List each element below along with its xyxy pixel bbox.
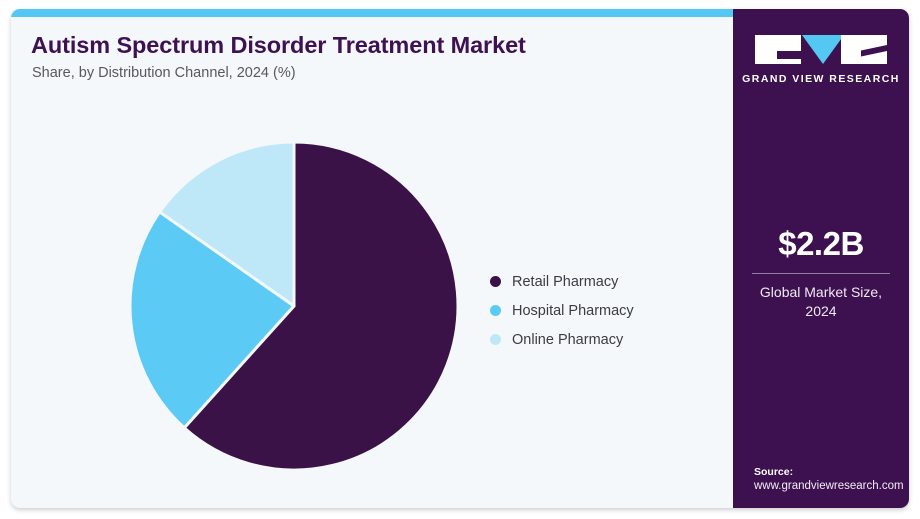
infographic-card: Autism Spectrum Disorder Treatment Marke…: [11, 9, 909, 508]
page-subtitle: Share, by Distribution Channel, 2024 (%): [32, 65, 296, 81]
legend-swatch-online-pharmacy: [490, 334, 501, 345]
market-size-caption-line1: Global Market Size,: [760, 284, 882, 300]
legend-swatch-hospital-pharmacy: [490, 305, 501, 316]
logo-letter-v-triangle-icon: [802, 35, 844, 64]
legend-swatch-retail-pharmacy: [490, 276, 501, 287]
logo-letter-r-icon: [841, 35, 887, 64]
market-size-value: $2.2B: [733, 227, 909, 260]
logo-marks: [746, 35, 896, 65]
source-url[interactable]: www.grandviewresearch.com: [754, 480, 909, 492]
legend-item-online-pharmacy[interactable]: Online Pharmacy: [490, 325, 634, 354]
source-block: Source: www.grandviewresearch.com: [754, 466, 909, 492]
legend-item-hospital-pharmacy[interactable]: Hospital Pharmacy: [490, 296, 634, 325]
market-size-stat: $2.2B Global Market Size, 2024: [733, 227, 909, 321]
page-title: Autism Spectrum Disorder Treatment Marke…: [31, 32, 526, 59]
market-size-caption: Global Market Size, 2024: [733, 283, 909, 321]
market-size-caption-line2: 2024: [805, 303, 836, 319]
logo-letter-g-icon: [755, 35, 801, 64]
brand-panel: GRAND VIEW RESEARCH $2.2B Global Market …: [733, 9, 909, 508]
stat-divider: [752, 273, 890, 274]
logo-wordmark: GRAND VIEW RESEARCH: [733, 73, 909, 85]
legend-item-retail-pharmacy[interactable]: Retail Pharmacy: [490, 267, 634, 296]
screenshot-canvas: Autism Spectrum Disorder Treatment Marke…: [0, 0, 920, 519]
chart-legend: Retail Pharmacy Hospital Pharmacy Online…: [490, 267, 634, 354]
top-accent-bar: [11, 9, 734, 17]
pie-chart-svg: [121, 131, 469, 483]
legend-label-hospital-pharmacy: Hospital Pharmacy: [512, 303, 634, 319]
legend-label-online-pharmacy: Online Pharmacy: [512, 332, 623, 348]
pie-chart: [121, 131, 469, 483]
legend-label-retail-pharmacy: Retail Pharmacy: [512, 274, 618, 290]
grand-view-research-logo: GRAND VIEW RESEARCH: [733, 35, 909, 85]
source-label: Source:: [754, 466, 909, 478]
